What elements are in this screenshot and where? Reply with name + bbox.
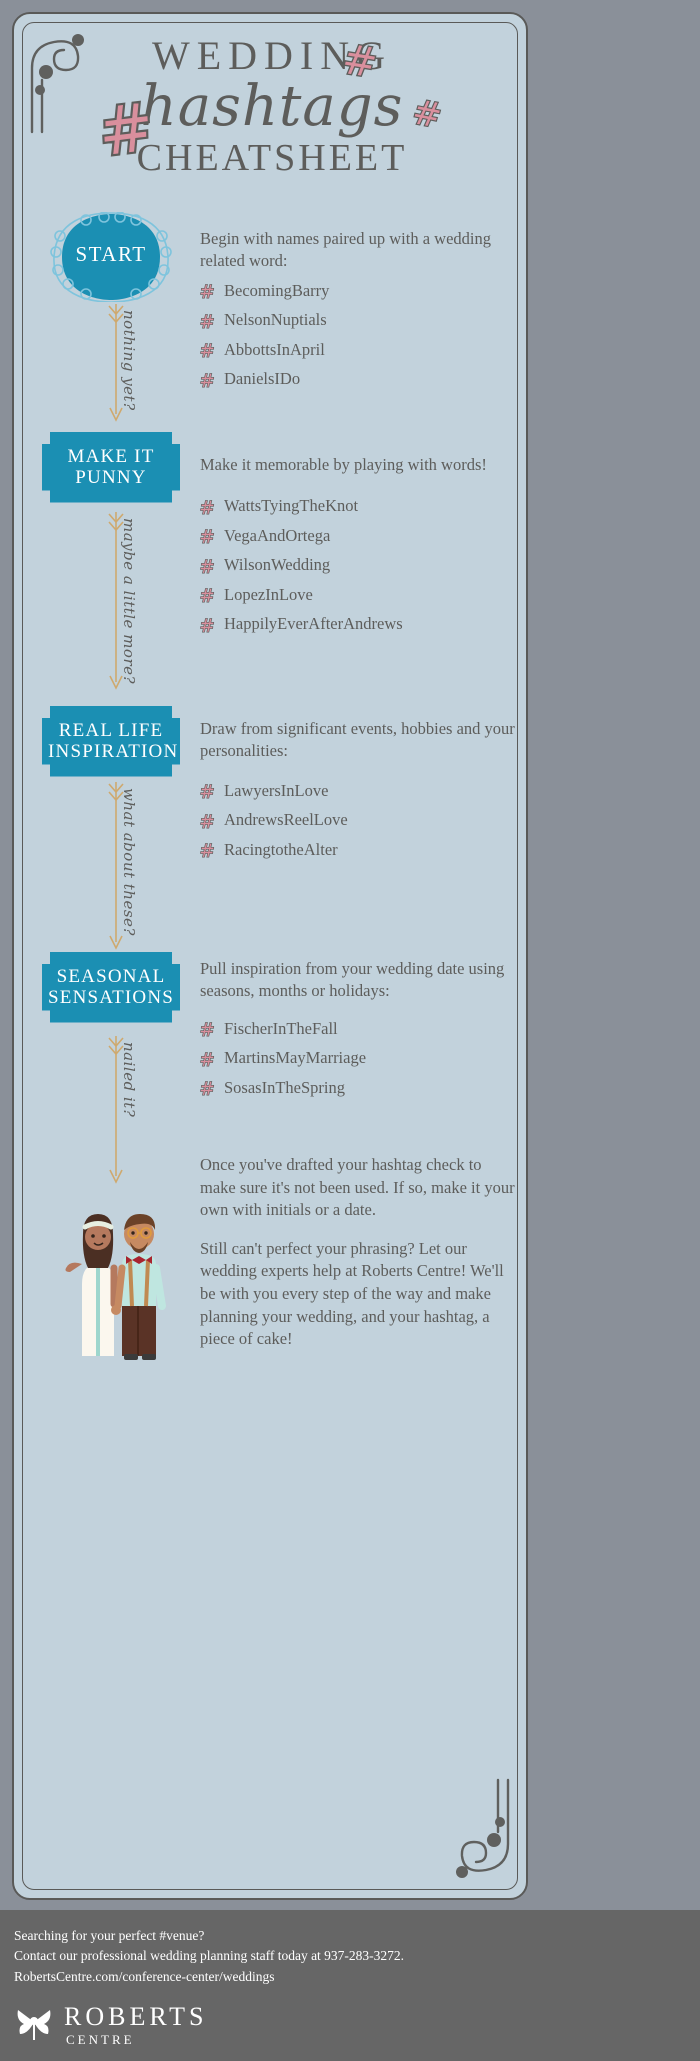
list-item: WattsTyingTheKnot bbox=[200, 498, 518, 515]
tag-label: BecomingBarry bbox=[224, 283, 329, 300]
hashtag-icon bbox=[200, 813, 216, 829]
connector-after-reallife: what about these? bbox=[74, 782, 184, 952]
header-line-cheatsheet: CHEATSHEET bbox=[14, 139, 530, 177]
step-reallife-badge-wrap[interactable]: REAL LIFE INSPIRATION bbox=[36, 706, 186, 777]
step-seasonal-body: Pull inspiration from your wedding date … bbox=[200, 958, 518, 1109]
tag-label: DanielsIDo bbox=[224, 371, 300, 388]
poster-card: WEDDING hashtags CHEATSHEET bbox=[12, 12, 528, 1900]
poster-header: WEDDING hashtags CHEATSHEET bbox=[14, 36, 530, 177]
list-item: LawyersInLove bbox=[200, 783, 518, 800]
step-punny-badge-wrap[interactable]: MAKE IT PUNNY bbox=[36, 432, 186, 503]
step-reallife-tag-list: LawyersInLove AndrewsReelLove Racingtoth… bbox=[200, 783, 518, 859]
hashtag-icon bbox=[200, 1080, 216, 1096]
roberts-centre-logo: ROBERTS CENTRE bbox=[14, 2002, 207, 2047]
badge-start-label: START bbox=[75, 243, 146, 267]
badge-real-life-inspiration[interactable]: REAL LIFE INSPIRATION bbox=[42, 706, 180, 777]
bride-and-groom-illustration bbox=[52, 1164, 192, 1364]
connector-label: what about these? bbox=[120, 788, 138, 936]
badge-reallife-label-line1: REAL LIFE bbox=[59, 720, 164, 741]
tag-label: AndrewsReelLove bbox=[224, 812, 348, 829]
step-punny-lead: Make it memorable by playing with words! bbox=[200, 454, 518, 476]
list-item: RacingtotheAlter bbox=[200, 842, 518, 859]
step-start-lead: Begin with names paired up with a weddin… bbox=[200, 228, 518, 273]
list-item: NelsonNuptials bbox=[200, 312, 518, 329]
hashtag-icon bbox=[200, 842, 216, 858]
connector-after-start: nothing yet? bbox=[74, 304, 184, 424]
badge-punny-label-line1: MAKE IT bbox=[67, 446, 154, 467]
logo-sub-text: CENTRE bbox=[66, 2033, 207, 2046]
list-item: FischerInTheFall bbox=[200, 1021, 518, 1038]
step-start-tag-list: BecomingBarry NelsonNuptials AbbottsInAp… bbox=[200, 283, 518, 388]
list-item: SosasInTheSpring bbox=[200, 1080, 518, 1097]
corner-flourish-bottom-right bbox=[402, 1774, 512, 1884]
tag-label: FischerInTheFall bbox=[224, 1021, 338, 1038]
header-line-wedding: WEDDING bbox=[14, 36, 530, 76]
badge-start[interactable]: START bbox=[42, 212, 180, 298]
hashtag-icon bbox=[200, 342, 216, 358]
hashtag-icon bbox=[341, 39, 382, 80]
tag-label: AbbottsInApril bbox=[224, 342, 325, 359]
footer-contact-text: Searching for your perfect #venue? Conta… bbox=[14, 1926, 654, 1987]
outro-block: Once you've drafted your hashtag check t… bbox=[200, 1154, 518, 1367]
outro-paragraph-1: Once you've drafted your hashtag check t… bbox=[200, 1154, 518, 1222]
hashtag-icon bbox=[97, 95, 162, 160]
step-punny-tag-list: WattsTyingTheKnot VegaAndOrtega WilsonWe… bbox=[200, 498, 518, 633]
tag-label: NelsonNuptials bbox=[224, 312, 327, 329]
step-punny-body: Make it memorable by playing with words!… bbox=[200, 454, 518, 646]
list-item: VegaAndOrtega bbox=[200, 528, 518, 545]
step-start-badge-wrap[interactable]: START bbox=[36, 212, 186, 298]
footer-line-1: Searching for your perfect #venue? bbox=[14, 1926, 654, 1946]
hashtag-icon bbox=[200, 1051, 216, 1067]
tag-label: VegaAndOrtega bbox=[224, 528, 330, 545]
list-item: LopezInLove bbox=[200, 587, 518, 604]
step-seasonal-lead: Pull inspiration from your wedding date … bbox=[200, 958, 518, 1003]
step-seasonal-badge-wrap[interactable]: SEASONAL SENSATIONS bbox=[36, 952, 186, 1023]
tag-label: LawyersInLove bbox=[224, 783, 328, 800]
hashtag-icon bbox=[200, 558, 216, 574]
hashtag-icon bbox=[200, 313, 216, 329]
badge-make-it-punny[interactable]: MAKE IT PUNNY bbox=[42, 432, 180, 503]
infographic-poster: WEDDING hashtags CHEATSHEET bbox=[0, 0, 540, 2061]
list-item: AndrewsReelLove bbox=[200, 812, 518, 829]
tag-label: SosasInTheSpring bbox=[224, 1080, 345, 1097]
connector-after-punny: maybe a little more? bbox=[74, 512, 184, 692]
step-reallife-body: Draw from significant events, hobbies an… bbox=[200, 718, 518, 871]
step-seasonal-tag-list: FischerInTheFall MartinsMayMarriage Sosa… bbox=[200, 1021, 518, 1097]
list-item: DanielsIDo bbox=[200, 371, 518, 388]
hashtag-icon bbox=[200, 587, 216, 603]
hashtag-icon bbox=[200, 617, 216, 633]
badge-reallife-label-line2: INSPIRATION bbox=[48, 741, 178, 762]
step-start-body: Begin with names paired up with a weddin… bbox=[200, 228, 518, 401]
list-item: WilsonWedding bbox=[200, 557, 518, 574]
tag-label: HappilyEverAfterAndrews bbox=[224, 616, 403, 633]
tag-label: WattsTyingTheKnot bbox=[224, 498, 358, 515]
connector-label: nothing yet? bbox=[120, 310, 138, 411]
badge-seasonal-sensations[interactable]: SEASONAL SENSATIONS bbox=[42, 952, 180, 1023]
badge-seasonal-label-line1: SEASONAL bbox=[57, 966, 166, 987]
connector-label: maybe a little more? bbox=[120, 518, 138, 684]
tag-label: RacingtotheAlter bbox=[224, 842, 338, 859]
hashtag-icon bbox=[200, 283, 216, 299]
step-reallife-lead: Draw from significant events, hobbies an… bbox=[200, 718, 518, 763]
footer-line-3[interactable]: RobertsCentre.com/conference-center/wedd… bbox=[14, 1967, 654, 1987]
list-item: HappilyEverAfterAndrews bbox=[200, 616, 518, 633]
outro-paragraph-2: Still can't perfect your phrasing? Let o… bbox=[200, 1238, 518, 1351]
footer-line-2: Contact our professional wedding plannin… bbox=[14, 1946, 654, 1966]
list-item: MartinsMayMarriage bbox=[200, 1050, 518, 1067]
hashtag-icon bbox=[200, 1021, 216, 1037]
badge-punny-label-line2: PUNNY bbox=[75, 467, 146, 488]
hashtag-icon bbox=[200, 783, 216, 799]
tag-label: MartinsMayMarriage bbox=[224, 1050, 366, 1067]
list-item: AbbottsInApril bbox=[200, 342, 518, 359]
logo-wordmark: ROBERTS CENTRE bbox=[64, 2004, 207, 2046]
tag-label: LopezInLove bbox=[224, 587, 313, 604]
footer-bar: Searching for your perfect #venue? Conta… bbox=[0, 1910, 700, 2061]
hashtag-icon bbox=[200, 528, 216, 544]
hashtag-icon bbox=[200, 372, 216, 388]
list-item: BecomingBarry bbox=[200, 283, 518, 300]
badge-seasonal-label-line2: SENSATIONS bbox=[48, 987, 174, 1008]
hashtag-icon bbox=[200, 499, 216, 515]
hashtag-icon bbox=[411, 95, 446, 130]
header-line-hashtags: hashtags bbox=[14, 78, 530, 137]
logo-main-text: ROBERTS bbox=[64, 2004, 207, 2030]
tag-label: WilsonWedding bbox=[224, 557, 330, 574]
connector-label: nailed it? bbox=[120, 1042, 138, 1117]
butterfly-logo-icon bbox=[14, 2002, 54, 2047]
